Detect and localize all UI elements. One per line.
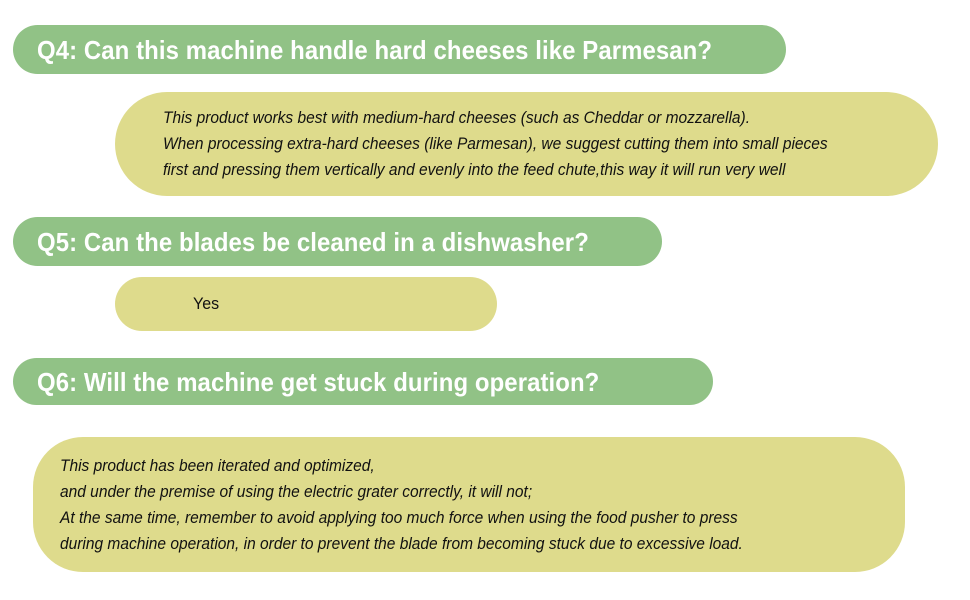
faq-question-text-q6: Q6: Will the machine get stuck during op…	[37, 369, 599, 395]
faq-question-pill-q4: Q4: Can this machine handle hard cheeses…	[13, 25, 786, 74]
faq-list: Q4: Can this machine handle hard cheeses…	[0, 0, 970, 600]
faq-question-pill-q5: Q5: Can the blades be cleaned in a dishw…	[13, 217, 662, 266]
faq-answer-line: Yes	[193, 291, 479, 317]
faq-answer-block-q5: Yes	[115, 277, 497, 331]
faq-answer-line: When processing extra-hard cheeses (like…	[163, 131, 892, 157]
faq-answer-line: This product has been iterated and optim…	[60, 453, 854, 479]
faq-answer-block-q6: This product has been iterated and optim…	[33, 437, 905, 572]
faq-answer-line: At the same time, remember to avoid appl…	[60, 505, 854, 531]
faq-answer-line: This product works best with medium-hard…	[163, 105, 892, 131]
faq-answer-block-q4: This product works best with medium-hard…	[115, 92, 938, 196]
faq-answer-line: first and pressing them vertically and e…	[163, 157, 892, 183]
faq-answer-line: and under the premise of using the elect…	[60, 479, 854, 505]
faq-question-text-q4: Q4: Can this machine handle hard cheeses…	[37, 37, 712, 63]
faq-question-pill-q6: Q6: Will the machine get stuck during op…	[13, 358, 713, 405]
faq-answer-line: during machine operation, in order to pr…	[60, 531, 854, 557]
faq-question-text-q5: Q5: Can the blades be cleaned in a dishw…	[37, 229, 589, 255]
